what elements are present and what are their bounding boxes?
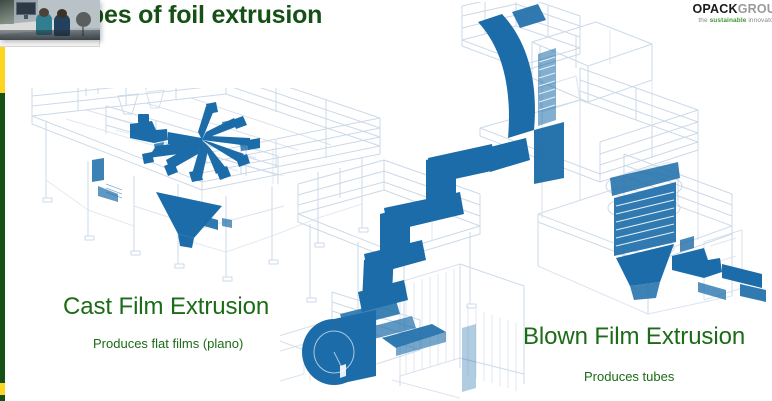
webcam-left-clutter — [0, 0, 14, 24]
blown-film-subtitle: Produces tubes — [584, 369, 674, 384]
webcam-monitor — [16, 2, 36, 15]
blown-film-heading: Blown Film Extrusion — [523, 323, 745, 351]
webcam-foreground — [0, 30, 100, 40]
webcam-thumbnail-border — [0, 40, 100, 47]
cast-film-subtitle: Produces flat films (plano) — [93, 336, 243, 351]
webcam-monitor-stand — [24, 15, 28, 19]
presenter-webcam-thumbnail[interactable] — [0, 0, 100, 40]
webcam-person-one-head — [39, 8, 49, 17]
slide-rail-bottom-yellow — [0, 383, 5, 395]
slide-rail-bottom-green — [0, 395, 5, 401]
cast-film-heading: Cast Film Extrusion — [63, 293, 269, 321]
webcam-person-two-head — [57, 9, 67, 18]
slide-rail-green — [0, 93, 5, 383]
presentation-slide: Types of foil extrusion OPACKGROU the su… — [0, 0, 772, 401]
webcam-round-object — [76, 12, 91, 27]
